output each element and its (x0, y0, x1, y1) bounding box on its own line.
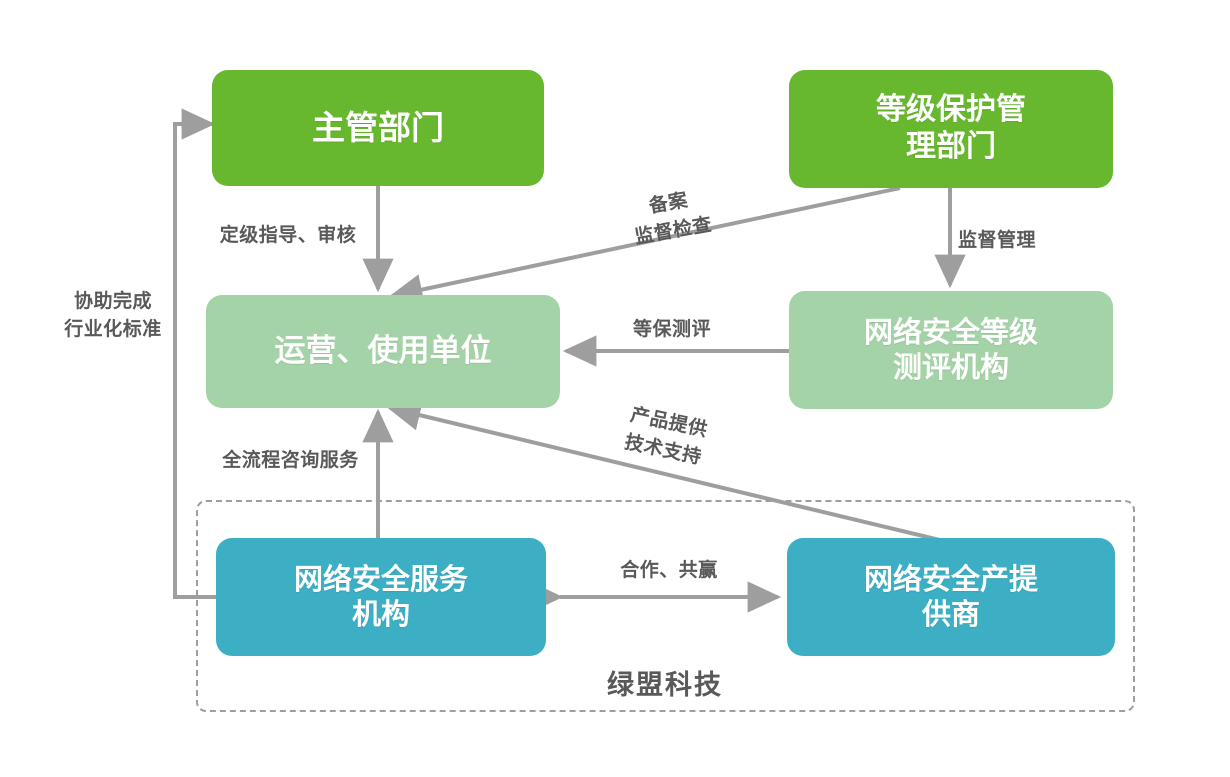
node-operator-label: 运营、使用单位 (275, 333, 492, 371)
diagram-canvas: 绿盟科技 主管部门 等级保护管 理部门 运营、使用单位 网络安全等级 测评机构 … (0, 0, 1230, 777)
edge-label-mlps-assessment: 等保测评 (612, 316, 732, 344)
edge-label-supervision-mgmt: 监督管理 (958, 227, 1078, 255)
node-product-vendor[interactable]: 网络安全产提 供商 (787, 538, 1115, 656)
node-assessor-label: 网络安全等级 测评机构 (864, 315, 1038, 386)
edge-label-grading-guidance: 定级指导、审核 (203, 222, 373, 250)
edge-label-cooperation: 合作、共赢 (601, 557, 737, 585)
node-service-org[interactable]: 网络安全服务 机构 (216, 538, 546, 656)
edge-label-filing-supervision: 备案 监督检查 (602, 179, 740, 256)
node-assessor[interactable]: 网络安全等级 测评机构 (789, 291, 1113, 409)
group-caption: 绿盟科技 (520, 663, 810, 702)
edge-label-product-support: 产品提供 技术支持 (597, 396, 736, 477)
node-supervisor-label: 主管部门 (312, 108, 444, 148)
edge-label-assist-standard: 协助完成 行业化标准 (48, 288, 178, 343)
node-supervisor[interactable]: 主管部门 (212, 70, 544, 186)
node-service-org-label: 网络安全服务 机构 (294, 562, 468, 633)
edge-label-full-process: 全流程咨询服务 (203, 447, 378, 475)
node-operator[interactable]: 运营、使用单位 (206, 295, 560, 408)
node-mlps-admin-label: 等级保护管 理部门 (876, 92, 1026, 165)
node-product-vendor-label: 网络安全产提 供商 (864, 562, 1038, 633)
node-mlps-admin[interactable]: 等级保护管 理部门 (789, 70, 1113, 188)
